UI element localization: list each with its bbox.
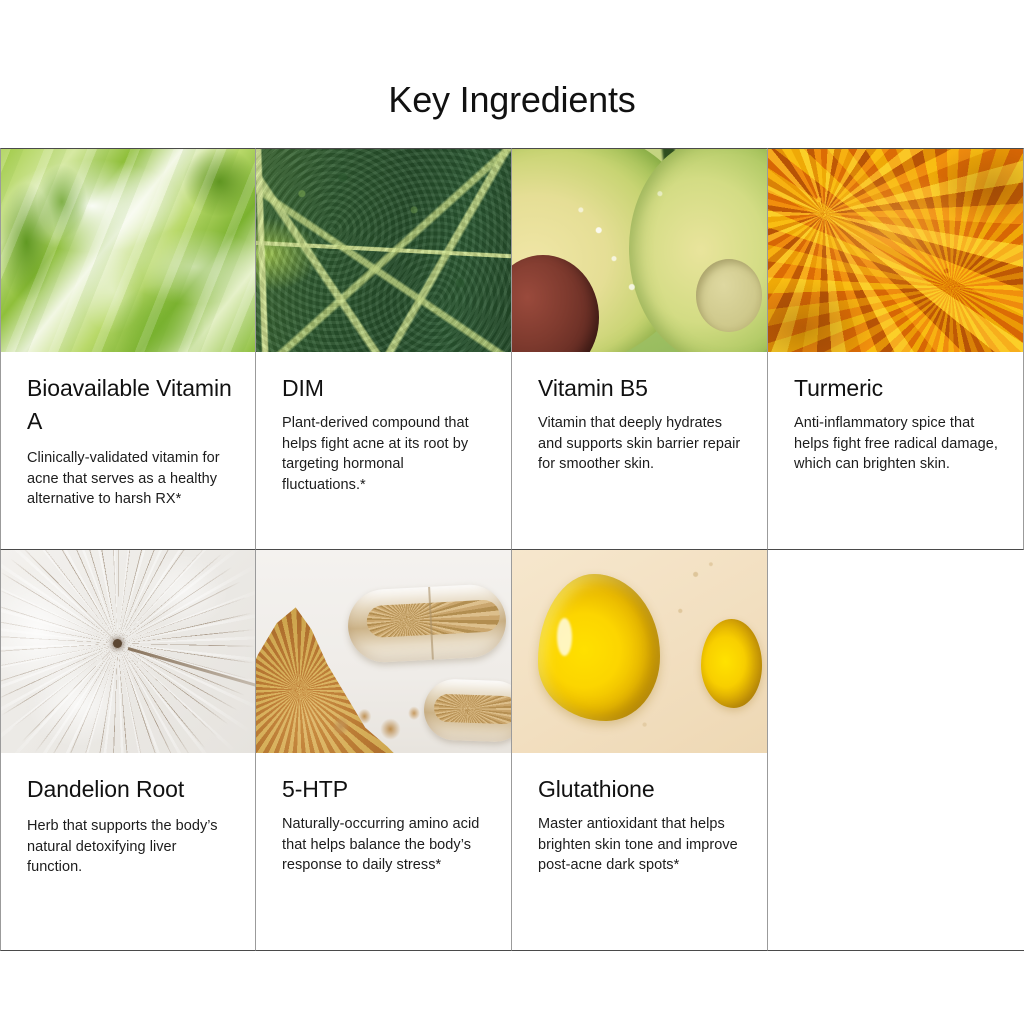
page-title: Key Ingredients xyxy=(0,78,1024,122)
ingredient-card-bioavailable-vitamin-a[interactable]: Bioavailable Vitamin A Clinically-valida… xyxy=(0,148,256,550)
dandelion-fluff xyxy=(1,550,255,753)
ingredient-name: Turmeric xyxy=(794,372,1001,405)
ingredient-name: Dandelion Root xyxy=(27,773,233,806)
ingredient-description: Vitamin that deeply hydrates and support… xyxy=(538,413,745,475)
ingredients-row-2: Dandelion Root Herb that supports the bo… xyxy=(0,550,1024,951)
yellow-oil-droplets-photo xyxy=(512,550,767,753)
water-droplets xyxy=(512,149,767,352)
capsule-large xyxy=(346,582,508,663)
savoy-cabbage-leaf-photo xyxy=(256,149,511,352)
ingredient-name: 5-HTP xyxy=(282,773,489,806)
card-text-block: Dandelion Root Herb that supports the bo… xyxy=(1,753,255,950)
ingredient-name: Vitamin B5 xyxy=(538,372,745,405)
ingredient-card-glutathione[interactable]: Glutathione Master antioxidant that help… xyxy=(512,550,768,951)
key-ingredients-page: Key Ingredients Bioavailable Vitamin A C… xyxy=(0,0,1024,1024)
ingredient-description: Anti-inflammatory spice that helps fight… xyxy=(794,413,1001,475)
ingredient-description: Plant-derived compound that helps fight … xyxy=(282,413,489,495)
ingredient-name: Bioavailable Vitamin A xyxy=(27,372,233,438)
powder-and-capsules-photo xyxy=(256,550,511,753)
ingredient-description: Master antioxidant that helps brighten s… xyxy=(538,814,745,876)
ingredient-card-vitamin-b5[interactable]: Vitamin B5 Vitamin that deeply hydrates … xyxy=(512,148,768,550)
ingredient-name: Glutathione xyxy=(538,773,745,806)
card-text-block: DIM Plant-derived compound that helps fi… xyxy=(256,352,511,549)
card-text-block: Vitamin B5 Vitamin that deeply hydrates … xyxy=(512,352,767,549)
ingredient-card-5-htp[interactable]: 5-HTP Naturally-occurring amino acid tha… xyxy=(256,550,512,951)
empty-grid-cell xyxy=(768,550,1024,951)
turmeric-powder-photo xyxy=(768,149,1023,352)
ingredients-grid: Bioavailable Vitamin A Clinically-valida… xyxy=(0,148,1024,951)
powder-crumbs xyxy=(322,692,439,745)
dandelion-seedhead-photo xyxy=(1,550,255,753)
ingredient-description: Clinically-validated vitamin for acne th… xyxy=(27,448,233,510)
ingredient-card-turmeric[interactable]: Turmeric Anti-inflammatory spice that he… xyxy=(768,148,1024,550)
ingredient-card-dim[interactable]: DIM Plant-derived compound that helps fi… xyxy=(256,148,512,550)
card-text-block: Turmeric Anti-inflammatory spice that he… xyxy=(768,352,1023,549)
ingredient-description: Herb that supports the body’s natural de… xyxy=(27,816,233,878)
avocado-halves-photo xyxy=(512,149,767,352)
ingredient-description: Naturally-occurring amino acid that help… xyxy=(282,814,489,876)
card-text-block: Bioavailable Vitamin A Clinically-valida… xyxy=(1,352,255,549)
green-lettuce-leaves-photo xyxy=(1,149,255,352)
ingredients-row-1: Bioavailable Vitamin A Clinically-valida… xyxy=(0,148,1024,550)
card-text-block: Glutathione Master antioxidant that help… xyxy=(512,753,767,950)
card-text-block: 5-HTP Naturally-occurring amino acid tha… xyxy=(256,753,511,950)
oil-droplet-small xyxy=(701,619,762,708)
ingredient-card-dandelion-root[interactable]: Dandelion Root Herb that supports the bo… xyxy=(0,550,256,951)
ingredient-name: DIM xyxy=(282,372,489,405)
